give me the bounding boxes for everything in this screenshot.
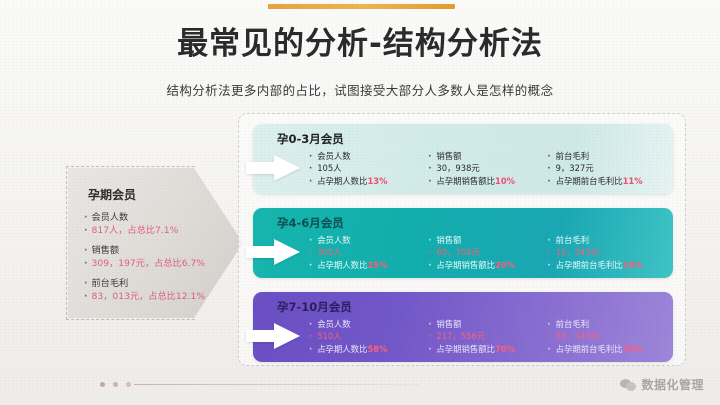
page-subtitle: 结构分析法更多内部的占比，试图接受大部分人多数人是怎样的概念	[0, 80, 720, 99]
metric-label: 销售额	[428, 234, 547, 246]
segment-card-columns: 会员人数 105人 占孕期人数比13% 销售额 30，938元 占孕期销售额比1…	[309, 150, 667, 187]
metric-share: 占孕期人数比58%	[309, 343, 428, 355]
decorative-dots-rule	[100, 380, 420, 390]
summary-label: 会员人数	[84, 211, 224, 224]
watermark-text: 数据化管理	[641, 376, 704, 393]
segment-card-title: 孕0-3月会员	[277, 131, 344, 147]
segment-card-title: 孕4-6月会员	[277, 215, 344, 231]
metric-value: 105人	[309, 162, 428, 174]
metric-share: 占孕期销售额比10%	[428, 175, 547, 187]
summary-value: 83，013元，占总比12.1%	[84, 290, 224, 303]
metric-value: 300人	[309, 246, 428, 258]
metric-share: 占孕期前台毛利比19%	[547, 259, 666, 271]
metric-value: 60，704元	[428, 246, 547, 258]
metric-label: 销售额	[428, 150, 547, 162]
metric-column: 前台毛利 58，343元 占孕期前台毛利比70%	[547, 318, 666, 355]
metric-share: 占孕期前台毛利比11%	[547, 175, 666, 187]
metric-column: 会员人数 105人 占孕期人数比13%	[309, 150, 428, 187]
summary-label: 前台毛利	[84, 277, 224, 290]
watermark: 数据化管理	[620, 376, 704, 393]
segment-card[interactable]: 孕0-3月会员 会员人数 105人 占孕期人数比13% 销售额 30，938元 …	[253, 124, 673, 194]
dot-icon	[113, 382, 118, 387]
segment-card[interactable]: 孕7-10月会员 会员人数 510人 占孕期人数比58% 销售额 217，556…	[253, 292, 673, 362]
summary-panel: 孕期会员 会员人数 817人，占总比7.1% 销售额 309，197元，占总比6…	[78, 172, 228, 316]
summary-label: 销售额	[84, 244, 224, 257]
right-arrow-icon	[246, 155, 300, 181]
metric-column: 销售额 60，704元 占孕期销售额比20%	[428, 234, 547, 271]
metric-value: 217，556元	[428, 330, 547, 342]
summary-group: 会员人数 817人，占总比7.1%	[84, 211, 224, 237]
page-title: 最常见的分析-结构分析法	[0, 18, 720, 63]
metric-label: 前台毛利	[547, 150, 666, 162]
metric-column: 会员人数 510人 占孕期人数比58%	[309, 318, 428, 355]
metric-column: 会员人数 300人 占孕期人数比25%	[309, 234, 428, 271]
metric-value: 9，327元	[547, 162, 666, 174]
metric-share: 占孕期销售额比70%	[428, 343, 547, 355]
metric-share: 占孕期人数比25%	[309, 259, 428, 271]
metric-label: 会员人数	[309, 150, 428, 162]
metric-column: 前台毛利 15，343元 占孕期前台毛利比19%	[547, 234, 666, 271]
metric-value: 15，343元	[547, 246, 666, 258]
metric-column: 销售额 217，556元 占孕期销售额比70%	[428, 318, 547, 355]
metric-value: 510人	[309, 330, 428, 342]
metric-value: 30，938元	[428, 162, 547, 174]
summary-group: 前台毛利 83，013元，占总比12.1%	[84, 277, 224, 303]
segment-card-title: 孕7-10月会员	[277, 299, 352, 315]
summary-value: 817人，占总比7.1%	[84, 224, 224, 237]
wechat-icon	[620, 378, 637, 392]
metric-label: 前台毛利	[547, 234, 666, 246]
horizontal-rule	[134, 384, 420, 385]
metric-column: 销售额 30，938元 占孕期销售额比10%	[428, 150, 547, 187]
segment-card-columns: 会员人数 510人 占孕期人数比58% 销售额 217，556元 占孕期销售额比…	[309, 318, 667, 355]
dot-icon	[100, 382, 105, 387]
metric-share: 占孕期人数比13%	[309, 175, 428, 187]
top-accent-bar	[268, 4, 455, 9]
segment-card-columns: 会员人数 300人 占孕期人数比25% 销售额 60，704元 占孕期销售额比2…	[309, 234, 667, 271]
right-arrow-icon	[246, 239, 300, 265]
metric-label: 前台毛利	[547, 318, 666, 330]
metric-label: 会员人数	[309, 234, 428, 246]
metric-column: 前台毛利 9，327元 占孕期前台毛利比11%	[547, 150, 666, 187]
summary-panel-heading: 孕期会员	[88, 186, 224, 203]
segment-cards-container: 孕0-3月会员 会员人数 105人 占孕期人数比13% 销售额 30，938元 …	[238, 113, 686, 366]
metric-value: 58，343元	[547, 330, 666, 342]
dot-icon	[126, 382, 131, 387]
metric-label: 销售额	[428, 318, 547, 330]
summary-value: 309，197元，占总比6.7%	[84, 257, 224, 270]
metric-share: 占孕期前台毛利比70%	[547, 343, 666, 355]
right-arrow-icon	[246, 323, 300, 349]
metric-share: 占孕期销售额比20%	[428, 259, 547, 271]
segment-card[interactable]: 孕4-6月会员 会员人数 300人 占孕期人数比25% 销售额 60，704元 …	[253, 208, 673, 278]
metric-label: 会员人数	[309, 318, 428, 330]
summary-group: 销售额 309，197元，占总比6.7%	[84, 244, 224, 270]
